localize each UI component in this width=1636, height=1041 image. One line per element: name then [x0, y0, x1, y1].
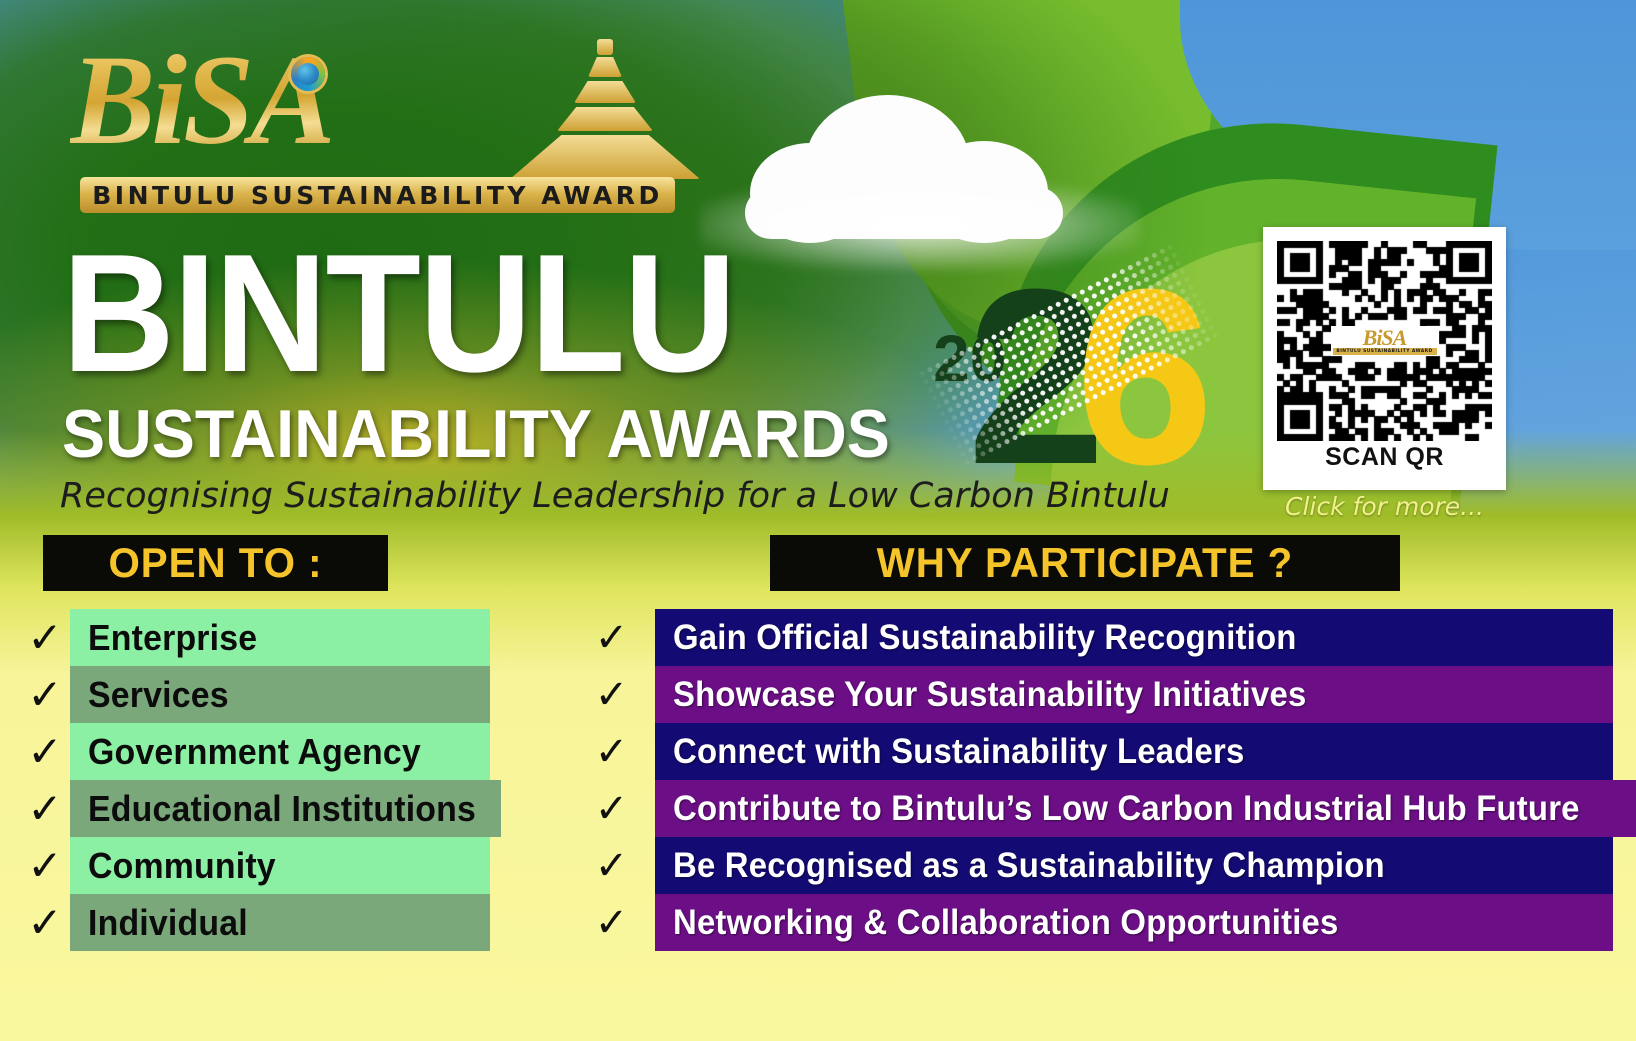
bisa-logo-band-text: BINTULU SUSTAINABILITY AWARD	[92, 181, 663, 210]
why-row-6: Networking & Collaboration Opportunities	[655, 894, 1613, 951]
why-row-5: Be Recognised as a Sustainability Champi…	[655, 837, 1613, 894]
open-to-row-6: Individual	[70, 894, 490, 951]
list-item-label: Educational Institutions	[88, 788, 476, 830]
open-to-header-text: OPEN TO :	[108, 539, 322, 587]
why-participate-list: ✓Gain Official Sustainability Recognitio…	[568, 609, 1613, 951]
open-to-row-5: Community	[70, 837, 490, 894]
qr-click-for-more[interactable]: Click for more...	[1263, 492, 1506, 521]
list-item: ✓Educational Institutions	[20, 780, 490, 837]
qr-caption: SCAN QR	[1277, 443, 1492, 472]
why-row-1: Gain Official Sustainability Recognition	[655, 609, 1613, 666]
qr-card[interactable]: BiSA BINTULU SUSTAINABILITY AWARD SCAN Q…	[1263, 227, 1506, 490]
list-item-label: Be Recognised as a Sustainability Champi…	[673, 846, 1385, 886]
qr-logo-band: BINTULU SUSTAINABILITY AWARD	[1333, 348, 1437, 355]
check-icon: ✓	[568, 675, 655, 715]
open-to-row-3: Government Agency	[70, 723, 490, 780]
list-item: ✓Services	[20, 666, 490, 723]
list-item: ✓Contribute to Bintulu’s Low Carbon Indu…	[568, 780, 1613, 837]
open-to-header-bar: OPEN TO :	[43, 535, 388, 591]
open-to-row-2: Services	[70, 666, 490, 723]
list-item: ✓Networking & Collaboration Opportunitie…	[568, 894, 1613, 951]
qr-embedded-logo: BiSA BINTULU SUSTAINABILITY AWARD	[1331, 326, 1439, 356]
list-item-label: Enterprise	[88, 617, 257, 659]
tower-icon	[500, 39, 710, 179]
check-icon: ✓	[20, 731, 70, 773]
check-icon: ✓	[568, 903, 655, 943]
check-icon: ✓	[568, 618, 655, 658]
page-subtitle: SUSTAINABILITY AWARDS	[62, 398, 917, 470]
open-to-list: ✓Enterprise✓Services✓Government Agency✓E…	[20, 609, 490, 951]
why-row-4: Contribute to Bintulu’s Low Carbon Indus…	[655, 780, 1636, 837]
list-item-label: Contribute to Bintulu’s Low Carbon Indus…	[673, 789, 1580, 829]
check-icon: ✓	[20, 845, 70, 887]
why-row-3: Connect with Sustainability Leaders	[655, 723, 1613, 780]
page-title: BINTULU	[62, 228, 899, 408]
qr-logo-mark: BiSA	[1363, 328, 1407, 348]
list-item-label: Connect with Sustainability Leaders	[673, 732, 1244, 772]
check-icon: ✓	[568, 846, 655, 886]
list-item: ✓Enterprise	[20, 609, 490, 666]
check-icon: ✓	[20, 674, 70, 716]
poster-canvas: BiSA BINTULU SUSTAINABILITY AWARD BINTUL…	[0, 0, 1636, 1041]
list-item-label: Showcase Your Sustainability Initiatives	[673, 675, 1306, 715]
bisa-logo-band: BINTULU SUSTAINABILITY AWARD	[80, 177, 675, 213]
qr-code[interactable]: BiSA BINTULU SUSTAINABILITY AWARD	[1277, 241, 1492, 441]
check-icon: ✓	[20, 617, 70, 659]
year-graphic: 2 6 20	[915, 240, 1215, 500]
list-item: ✓Showcase Your Sustainability Initiative…	[568, 666, 1613, 723]
list-item: ✓Be Recognised as a Sustainability Champ…	[568, 837, 1613, 894]
why-participate-header-text: WHY PARTICIPATE ?	[877, 539, 1294, 587]
list-item-label: Services	[88, 674, 229, 716]
why-row-2: Showcase Your Sustainability Initiatives	[655, 666, 1613, 723]
bisa-logo: BiSA BINTULU SUSTAINABILITY AWARD	[70, 25, 670, 220]
list-item-label: Gain Official Sustainability Recognition	[673, 618, 1297, 658]
open-to-row-4: Educational Institutions	[70, 780, 501, 837]
globe-icon	[291, 57, 325, 91]
list-item-label: Networking & Collaboration Opportunities	[673, 903, 1339, 943]
list-item: ✓Gain Official Sustainability Recognitio…	[568, 609, 1613, 666]
list-item-label: Individual	[88, 902, 248, 944]
open-to-row-1: Enterprise	[70, 609, 490, 666]
check-icon: ✓	[20, 902, 70, 944]
check-icon: ✓	[20, 788, 70, 830]
check-icon: ✓	[568, 789, 655, 829]
list-item-label: Community	[88, 845, 276, 887]
list-item: ✓Connect with Sustainability Leaders	[568, 723, 1613, 780]
why-participate-header-bar: WHY PARTICIPATE ?	[770, 535, 1400, 591]
list-item: ✓Community	[20, 837, 490, 894]
list-item-label: Government Agency	[88, 731, 421, 773]
list-item: ✓Government Agency	[20, 723, 490, 780]
list-item: ✓Individual	[20, 894, 490, 951]
check-icon: ✓	[568, 732, 655, 772]
